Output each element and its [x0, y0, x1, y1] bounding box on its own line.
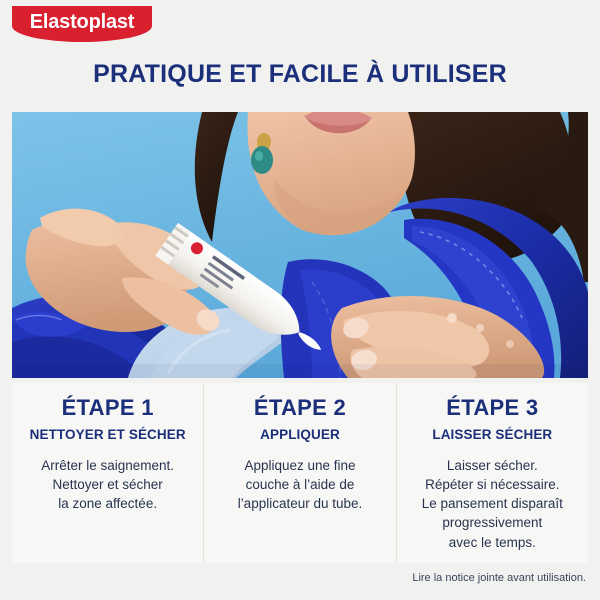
step-1-title: ÉTAPE 1: [18, 395, 197, 421]
step-card-3: ÉTAPE 3 LAISSER SÉCHER Laisser sécher. R…: [396, 383, 588, 563]
legal-note: Lire la notice jointe avant utilisation.: [412, 572, 586, 584]
logo-red-banner: Elastoplast: [12, 6, 152, 42]
step-3-subtitle: LAISSER SÉCHER: [403, 427, 582, 442]
step-3-title: ÉTAPE 3: [403, 395, 582, 421]
brand-logo: Elastoplast: [12, 6, 152, 54]
step-card-1: ÉTAPE 1 NETTOYER ET SÉCHER Arrêter le sa…: [12, 383, 203, 563]
step-2-body: Appliquez une fine couche à l’aide de l’…: [210, 456, 389, 513]
step-1-body: Arrêter le saignement. Nettoyer et séche…: [18, 456, 197, 513]
step-1-subtitle: NETTOYER ET SÉCHER: [18, 427, 197, 442]
page-title: PRATIQUE ET FACILE À UTILISER: [0, 60, 600, 89]
step-3-body: Laisser sécher. Répéter si nécessaire. L…: [403, 456, 582, 552]
step-2-subtitle: APPLIQUER: [210, 427, 389, 442]
hero-photo-illustration: [12, 112, 588, 378]
steps-row: ÉTAPE 1 NETTOYER ET SÉCHER Arrêter le sa…: [12, 383, 588, 563]
step-2-title: ÉTAPE 2: [210, 395, 389, 421]
logo-wordmark: Elastoplast: [12, 6, 152, 38]
step-card-2: ÉTAPE 2 APPLIQUER Appliquez une fine cou…: [203, 383, 395, 563]
advertisement-page: Elastoplast PRATIQUE ET FACILE À UTILISE…: [0, 0, 600, 600]
hero-photo: [12, 112, 588, 378]
